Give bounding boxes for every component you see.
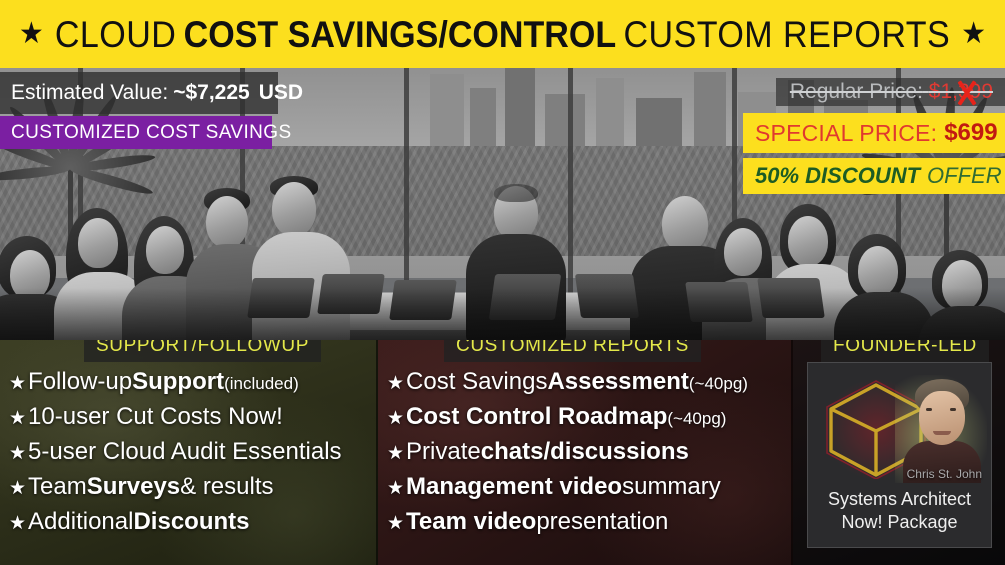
discount-percent: 50% DISCOUNT	[755, 163, 920, 189]
star-bullet-icon: ★	[387, 514, 404, 533]
building-shape	[430, 74, 464, 148]
list-item-text: Cost Control Roadmap	[406, 403, 667, 431]
building-shape	[596, 78, 624, 150]
star-bullet-icon: ★	[9, 514, 26, 533]
estimated-value-currency: USD	[259, 81, 303, 105]
list-item: ★Team Surveys & results	[9, 473, 378, 501]
founder-name: Chris St. John	[907, 467, 982, 481]
list-item-text: Private	[406, 438, 481, 466]
list-item: ★Cost Control Roadmap (~40pg)	[387, 403, 793, 431]
special-price-badge: SPECIAL PRICE: $699	[743, 113, 1005, 153]
regular-price-row: Regular Price: $1,399	[776, 78, 1005, 106]
estimated-value-amount: ~$7,225	[173, 81, 250, 105]
list-item-text: chats/discussions	[481, 438, 689, 466]
star-bullet-icon: ★	[9, 409, 26, 428]
discount-badge: 50% DISCOUNT OFFER	[743, 158, 1005, 194]
list-item-text: (~40pg)	[667, 409, 726, 429]
list-item-text: Support	[132, 368, 224, 396]
support-list: ★Follow-up Support(included)★10-user Cut…	[0, 340, 378, 536]
promo-banner: ★ CLOUD COST SAVINGS/CONTROL CUSTOM REPO…	[0, 0, 1005, 565]
window-mullion	[568, 68, 573, 298]
star-bullet-icon: ★	[9, 374, 26, 393]
section-header-reports: CUSTOMIZED REPORTS	[444, 340, 701, 362]
special-price-amount: $699	[944, 119, 997, 147]
star-bullet-icon: ★	[387, 409, 404, 428]
regular-price-amount: $1,399	[929, 80, 993, 103]
star-icon-right: ★	[958, 19, 990, 49]
section-header-founder: FOUNDER-LED	[821, 340, 989, 362]
founder-card[interactable]: Chris St. John Systems Architect Now! Pa…	[807, 362, 992, 548]
customized-cost-savings-tag: CUSTOMIZED COST SAVINGS	[0, 116, 272, 149]
list-item: ★5-user Cloud Audit Essentials	[9, 438, 378, 466]
founder-title-line2: Now! Package	[808, 511, 991, 534]
list-item-text: Discounts	[133, 508, 249, 536]
building-shape	[636, 98, 682, 150]
building-shape	[545, 94, 585, 150]
regular-price-label: Regular Price:	[790, 80, 923, 103]
section-header-support: SUPPORT/FOLLOWUP	[84, 340, 321, 362]
pricing-block: Regular Price: $1,399 SPECIAL PRICE: $69…	[743, 78, 1005, 194]
estimated-value-label: Estimated Value:	[11, 81, 168, 105]
list-item-text: (~40pg)	[689, 374, 748, 394]
features-panel: SUPPORT/FOLLOWUP ★Follow-up Support(incl…	[0, 340, 1005, 565]
list-item: ★Team video presentation	[387, 508, 793, 536]
special-price-label: SPECIAL PRICE:	[755, 120, 937, 147]
discount-offer-label: OFFER	[927, 163, 1002, 189]
list-item: ★10-user Cut Costs Now!	[9, 403, 378, 431]
list-item: ★Management video summary	[387, 473, 793, 501]
list-item-text: 5-user Cloud Audit Essentials	[28, 438, 342, 466]
list-item: ★Cost Savings Assessment (~40pg)	[387, 368, 793, 396]
estimated-value-badge: Estimated Value: ~$7,225 USD	[0, 72, 278, 114]
header-title-bar: ★ CLOUD COST SAVINGS/CONTROL CUSTOM REPO…	[0, 0, 1005, 68]
star-bullet-icon: ★	[387, 444, 404, 463]
founder-package-title: Systems Architect Now! Package	[808, 488, 991, 534]
estimated-value-block: Estimated Value: ~$7,225 USD CUSTOMIZED …	[0, 72, 278, 149]
list-item-text: Assessment	[547, 368, 688, 396]
list-item-text: & results	[180, 473, 273, 501]
title-segment-cost-savings-control: COST SAVINGS/CONTROL	[180, 16, 620, 53]
star-bullet-icon: ★	[387, 374, 404, 393]
list-item-text: presentation	[536, 508, 668, 536]
building-shape	[694, 72, 726, 150]
list-item: ★Follow-up Support(included)	[9, 368, 378, 396]
list-item: ★Additional Discounts	[9, 508, 378, 536]
star-icon-left: ★	[15, 19, 47, 49]
star-bullet-icon: ★	[9, 444, 26, 463]
list-item-text: Additional	[28, 508, 133, 536]
list-item-text: Team	[28, 473, 87, 501]
title-segment-cloud: CLOUD	[51, 16, 180, 53]
list-item-text: summary	[622, 473, 721, 501]
list-item-text: Management video	[406, 473, 622, 501]
window-mullion	[404, 68, 409, 298]
column-support-followup: SUPPORT/FOLLOWUP ★Follow-up Support(incl…	[0, 340, 378, 565]
title-segment-custom-reports: CUSTOM REPORTS	[620, 16, 954, 53]
page-title: ★ CLOUD COST SAVINGS/CONTROL CUSTOM REPO…	[12, 16, 994, 53]
star-bullet-icon: ★	[9, 479, 26, 498]
list-item: ★Private chats/discussions	[387, 438, 793, 466]
list-item-text: Surveys	[87, 473, 180, 501]
column-founder-led: FOUNDER-LED	[793, 340, 1005, 565]
list-item-text: Cost Savings	[406, 368, 547, 396]
list-item-text: Team video	[406, 508, 536, 536]
building-shape	[470, 88, 496, 148]
building-shape	[505, 68, 535, 150]
list-item-text: 10-user Cut Costs Now!	[28, 403, 283, 431]
list-item-text: Follow-up	[28, 368, 132, 396]
star-bullet-icon: ★	[387, 479, 404, 498]
list-item-text: (included)	[224, 374, 299, 394]
founder-title-line1: Systems Architect	[808, 488, 991, 511]
reports-list: ★Cost Savings Assessment (~40pg)★Cost Co…	[378, 340, 793, 536]
column-customized-reports: CUSTOMIZED REPORTS ★Cost Savings Assessm…	[378, 340, 793, 565]
